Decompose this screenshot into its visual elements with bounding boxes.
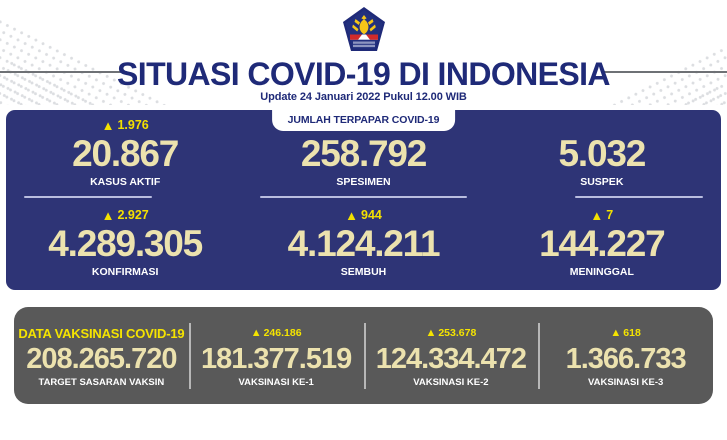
covid-stats-row-bottom: ▲ 2.927 4.289.305 KONFIRMASI ▲ 944 4.124…	[6, 203, 721, 289]
double-chevron-up-icon: ▲	[425, 328, 436, 339]
label-target-sasaran-vaksin: TARGET SASARAN VAKSIN	[38, 377, 164, 388]
value-suspek: 5.032	[559, 133, 646, 175]
delta-vaksinasi-ke-1: ▲ 246.186	[251, 325, 302, 342]
double-chevron-up-icon: ▲	[590, 209, 603, 222]
vax-cell-target: DATA VAKSINASI COVID-19 208.265.720 TARG…	[14, 307, 189, 404]
delta-konfirmasi: ▲ 2.927	[102, 207, 149, 223]
separator-line	[24, 196, 152, 198]
label-meninggal: MENINGGAL	[570, 266, 634, 278]
double-chevron-up-icon: ▲	[102, 209, 115, 222]
delta-vaksinasi-ke-2: ▲ 253.678	[425, 325, 476, 342]
header: SITUASI COVID-19 DI INDONESIA Update 24 …	[0, 0, 727, 105]
label-vaksinasi-ke-3: VAKSINASI KE-3	[588, 377, 663, 388]
value-sembuh: 4.124.211	[288, 223, 440, 265]
vax-cell-dose-3: ▲ 618 1.366.733 VAKSINASI KE-3	[538, 307, 713, 404]
delta-value: 1.976	[117, 117, 148, 133]
value-spesimen: 258.792	[301, 133, 426, 175]
value-meninggal: 144.227	[539, 223, 664, 265]
stat-cell-konfirmasi: ▲ 2.927 4.289.305 KONFIRMASI	[6, 203, 244, 289]
stat-cell-kasus-aktif: ▲ 1.976 20.867 KASUS AKTIF	[6, 113, 244, 199]
value-vaksinasi-ke-1: 181.377.519	[201, 342, 351, 376]
delta-value: 618	[623, 325, 641, 342]
label-vaksinasi-ke-1: VAKSINASI KE-1	[238, 377, 313, 388]
delta-value: 253.678	[438, 325, 476, 342]
label-vaksinasi-ke-2: VAKSINASI KE-2	[413, 377, 488, 388]
double-chevron-up-icon: ▲	[610, 328, 621, 339]
double-chevron-up-icon: ▲	[251, 328, 262, 339]
double-chevron-up-icon: ▲	[102, 119, 115, 132]
value-kasus-aktif: 20.867	[72, 133, 178, 175]
kemenkes-garuda-emblem-icon	[342, 6, 386, 56]
delta-vaksinasi-ke-3: ▲ 618	[610, 325, 640, 342]
label-sembuh: SEMBUH	[341, 266, 387, 278]
delta-value: 944	[361, 207, 382, 223]
delta-value: 7	[606, 207, 613, 223]
separator-line	[575, 196, 703, 198]
vaccination-panel: DATA VAKSINASI COVID-19 208.265.720 TARG…	[14, 307, 713, 404]
label-konfirmasi: KONFIRMASI	[92, 266, 159, 278]
update-timestamp: Update 24 Januari 2022 Pukul 12.00 WIB	[0, 91, 727, 103]
double-chevron-up-icon: ▲	[345, 209, 358, 222]
covid-panel-badge: JUMLAH TERPAPAR COVID-19	[272, 110, 456, 131]
stat-cell-meninggal: ▲ 7 144.227 MENINGGAL	[483, 203, 721, 289]
infographic-page: SITUASI COVID-19 DI INDONESIA Update 24 …	[0, 0, 727, 440]
delta-value: 2.927	[117, 207, 148, 223]
vax-cell-dose-1: ▲ 246.186 181.377.519 VAKSINASI KE-1	[189, 307, 364, 404]
label-suspek: SUSPEK	[580, 176, 623, 188]
separator-line	[260, 196, 466, 198]
value-vaksinasi-ke-3: 1.366.733	[566, 342, 686, 376]
vax-cell-dose-2: ▲ 253.678 124.334.472 VAKSINASI KE-2	[364, 307, 539, 404]
vaccination-panel-heading: DATA VAKSINASI COVID-19	[18, 325, 184, 342]
label-kasus-aktif: KASUS AKTIF	[90, 176, 160, 188]
delta-sembuh: ▲ 944	[345, 207, 382, 223]
delta-kasus-aktif: ▲ 1.976	[102, 117, 149, 133]
label-spesimen: SPESIMEN	[336, 176, 390, 188]
stat-cell-sembuh: ▲ 944 4.124.211 SEMBUH	[244, 203, 482, 289]
page-title: SITUASI COVID-19 DI INDONESIA	[0, 56, 727, 93]
delta-meninggal: ▲ 7	[590, 207, 613, 223]
value-target-sasaran-vaksin: 208.265.720	[26, 342, 176, 376]
stat-cell-suspek: 5.032 SUSPEK	[483, 113, 721, 199]
value-vaksinasi-ke-2: 124.334.472	[376, 342, 526, 376]
value-konfirmasi: 4.289.305	[48, 223, 202, 265]
delta-value: 246.186	[264, 325, 302, 342]
